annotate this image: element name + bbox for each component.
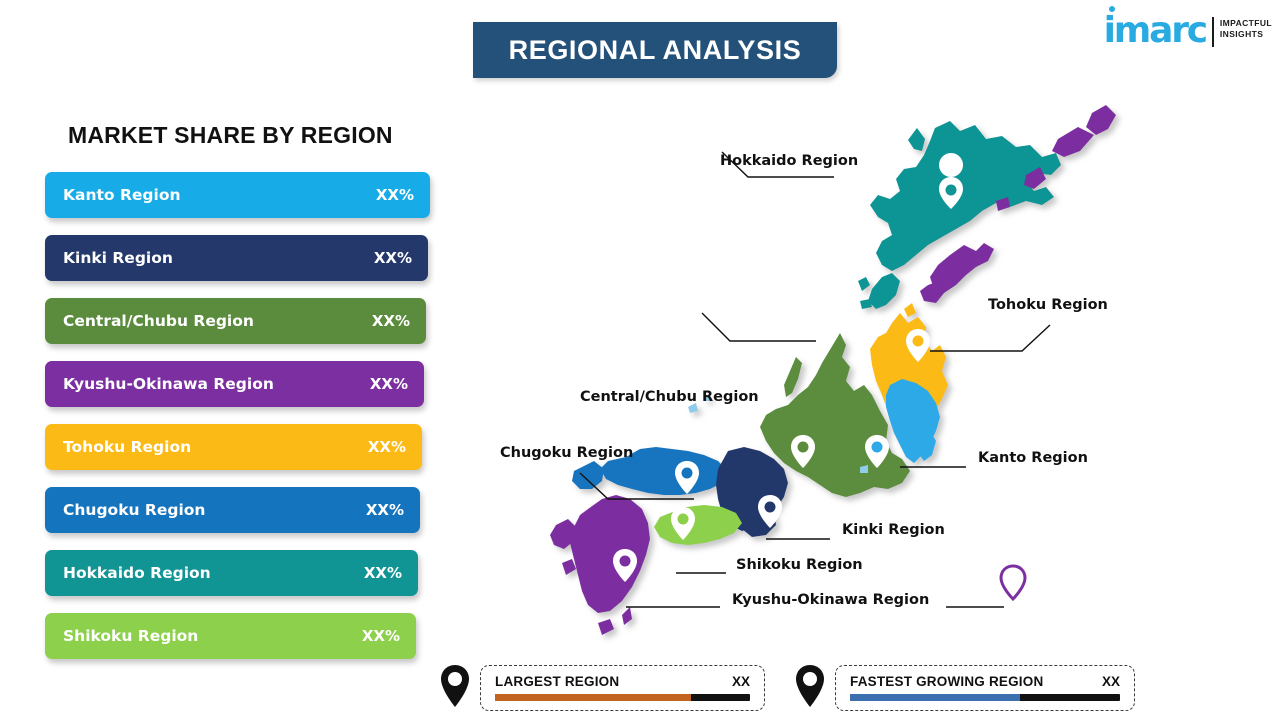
region-shape-kyushu-islet2[interactable] bbox=[598, 619, 614, 635]
map-label-kinki: Kinki Region bbox=[842, 522, 945, 538]
market-share-bar-value: XX% bbox=[374, 249, 412, 267]
market-share-bar-label: Shikoku Region bbox=[63, 627, 198, 645]
logo-tagline: IMPACTFUL INSIGHTS bbox=[1220, 18, 1272, 41]
logo-tagline-line1: IMPACTFUL bbox=[1220, 18, 1272, 29]
market-share-bar-label: Tohoku Region bbox=[63, 438, 191, 456]
fastest-region-label: FASTEST GROWING REGION bbox=[850, 674, 1043, 689]
region-shape-hokkaido-tail[interactable] bbox=[868, 273, 900, 309]
region-shape-kyushu-islet3[interactable] bbox=[622, 607, 632, 625]
largest-region-card: LARGEST REGION XX bbox=[480, 665, 765, 711]
market-share-bar-value: XX% bbox=[364, 564, 402, 582]
largest-region-label: LARGEST REGION bbox=[495, 674, 619, 689]
japan-region-map: Hokkaido Region Tohoku Region Central/Ch… bbox=[430, 95, 1170, 665]
region-shape-shikoku[interactable] bbox=[654, 505, 742, 545]
map-label-tohoku: Tohoku Region bbox=[988, 297, 1108, 313]
page-title: REGIONAL ANALYSIS bbox=[509, 35, 802, 66]
market-share-bar[interactable]: Shikoku RegionXX% bbox=[45, 613, 416, 659]
market-share-bar-value: XX% bbox=[366, 501, 404, 519]
market-share-bar-label: Central/Chubu Region bbox=[63, 312, 254, 330]
logo-dot-icon bbox=[1109, 6, 1115, 12]
leader-chubu bbox=[702, 313, 816, 341]
market-share-bar[interactable]: Central/Chubu RegionXX% bbox=[45, 298, 426, 344]
page-title-banner: REGIONAL ANALYSIS bbox=[473, 22, 837, 78]
logo-text: imarc bbox=[1104, 10, 1206, 51]
logo-wordmark: imarc bbox=[1104, 14, 1206, 48]
logo-tagline-line2: INSIGHTS bbox=[1220, 29, 1272, 40]
fastest-region-card: FASTEST GROWING REGION XX bbox=[835, 665, 1135, 711]
region-shape-kyushu-islet[interactable] bbox=[562, 559, 576, 575]
logo-divider bbox=[1212, 17, 1214, 47]
market-share-bar-label: Chugoku Region bbox=[63, 501, 205, 519]
map-label-hokkaido: Hokkaido Region bbox=[720, 153, 858, 169]
region-shape-hokkaido-islet[interactable] bbox=[858, 277, 870, 291]
map-label-kyushu: Kyushu-Okinawa Region bbox=[732, 592, 929, 608]
market-share-bar-label: Kyushu-Okinawa Region bbox=[63, 375, 274, 393]
region-shape-hokkaido[interactable] bbox=[908, 128, 925, 151]
market-share-bar[interactable]: Kyushu-Okinawa RegionXX% bbox=[45, 361, 424, 407]
pin-okinawa[interactable] bbox=[1001, 566, 1025, 599]
market-share-bar[interactable]: Hokkaido RegionXX% bbox=[45, 550, 418, 596]
market-share-bar-label: Hokkaido Region bbox=[63, 564, 211, 582]
imarc-logo: imarc IMPACTFUL INSIGHTS bbox=[1104, 14, 1272, 48]
market-share-bar[interactable]: Kanto RegionXX% bbox=[45, 172, 430, 218]
market-share-bar-value: XX% bbox=[370, 375, 408, 393]
market-share-bar-value: XX% bbox=[372, 312, 410, 330]
market-share-bar-value: XX% bbox=[368, 438, 406, 456]
market-share-heading: MARKET SHARE BY REGION bbox=[68, 122, 393, 149]
fastest-region-progress-fill bbox=[850, 694, 1020, 701]
map-label-chugoku: Chugoku Region bbox=[500, 445, 633, 461]
market-share-bar-label: Kanto Region bbox=[63, 186, 181, 204]
market-share-bar[interactable]: Chugoku RegionXX% bbox=[45, 487, 420, 533]
slide-canvas: REGIONAL ANALYSIS imarc IMPACTFUL INSIGH… bbox=[0, 0, 1280, 720]
region-shape-okinawa-main2[interactable] bbox=[920, 281, 944, 303]
map-svg bbox=[430, 95, 1170, 665]
map-label-kanto: Kanto Region bbox=[978, 450, 1088, 466]
map-label-shikoku: Shikoku Region bbox=[736, 557, 863, 573]
market-share-bar-label: Kinki Region bbox=[63, 249, 173, 267]
largest-region-pin-icon bbox=[438, 663, 472, 709]
map-label-chubu: Central/Chubu Region bbox=[580, 389, 759, 405]
largest-region-value: XX bbox=[732, 674, 750, 689]
region-shape-okinawa-north[interactable] bbox=[1086, 105, 1116, 135]
market-share-bar-value: XX% bbox=[362, 627, 400, 645]
region-shape-chugoku-west[interactable] bbox=[572, 461, 604, 489]
largest-region-progress-track bbox=[495, 694, 750, 701]
fastest-region-value: XX bbox=[1102, 674, 1120, 689]
region-shape-hokkaido-islet2[interactable] bbox=[860, 299, 872, 309]
market-share-bar-value: XX% bbox=[376, 186, 414, 204]
market-share-bar[interactable]: Kinki RegionXX% bbox=[45, 235, 428, 281]
region-shape-tohoku-notch[interactable] bbox=[904, 303, 916, 317]
region-shape-kyushu[interactable] bbox=[570, 495, 650, 613]
market-share-bar-list: Kanto RegionXX%Kinki RegionXX%Central/Ch… bbox=[45, 172, 430, 676]
fastest-region-progress-track bbox=[850, 694, 1120, 701]
fastest-region-pin-icon bbox=[793, 663, 827, 709]
region-shape-chubu-noto[interactable] bbox=[784, 357, 802, 397]
leader-tohoku bbox=[930, 325, 1050, 351]
region-shape-okinawa-chain1[interactable] bbox=[1052, 127, 1094, 157]
market-share-bar[interactable]: Tohoku RegionXX% bbox=[45, 424, 422, 470]
largest-region-progress-fill bbox=[495, 694, 691, 701]
